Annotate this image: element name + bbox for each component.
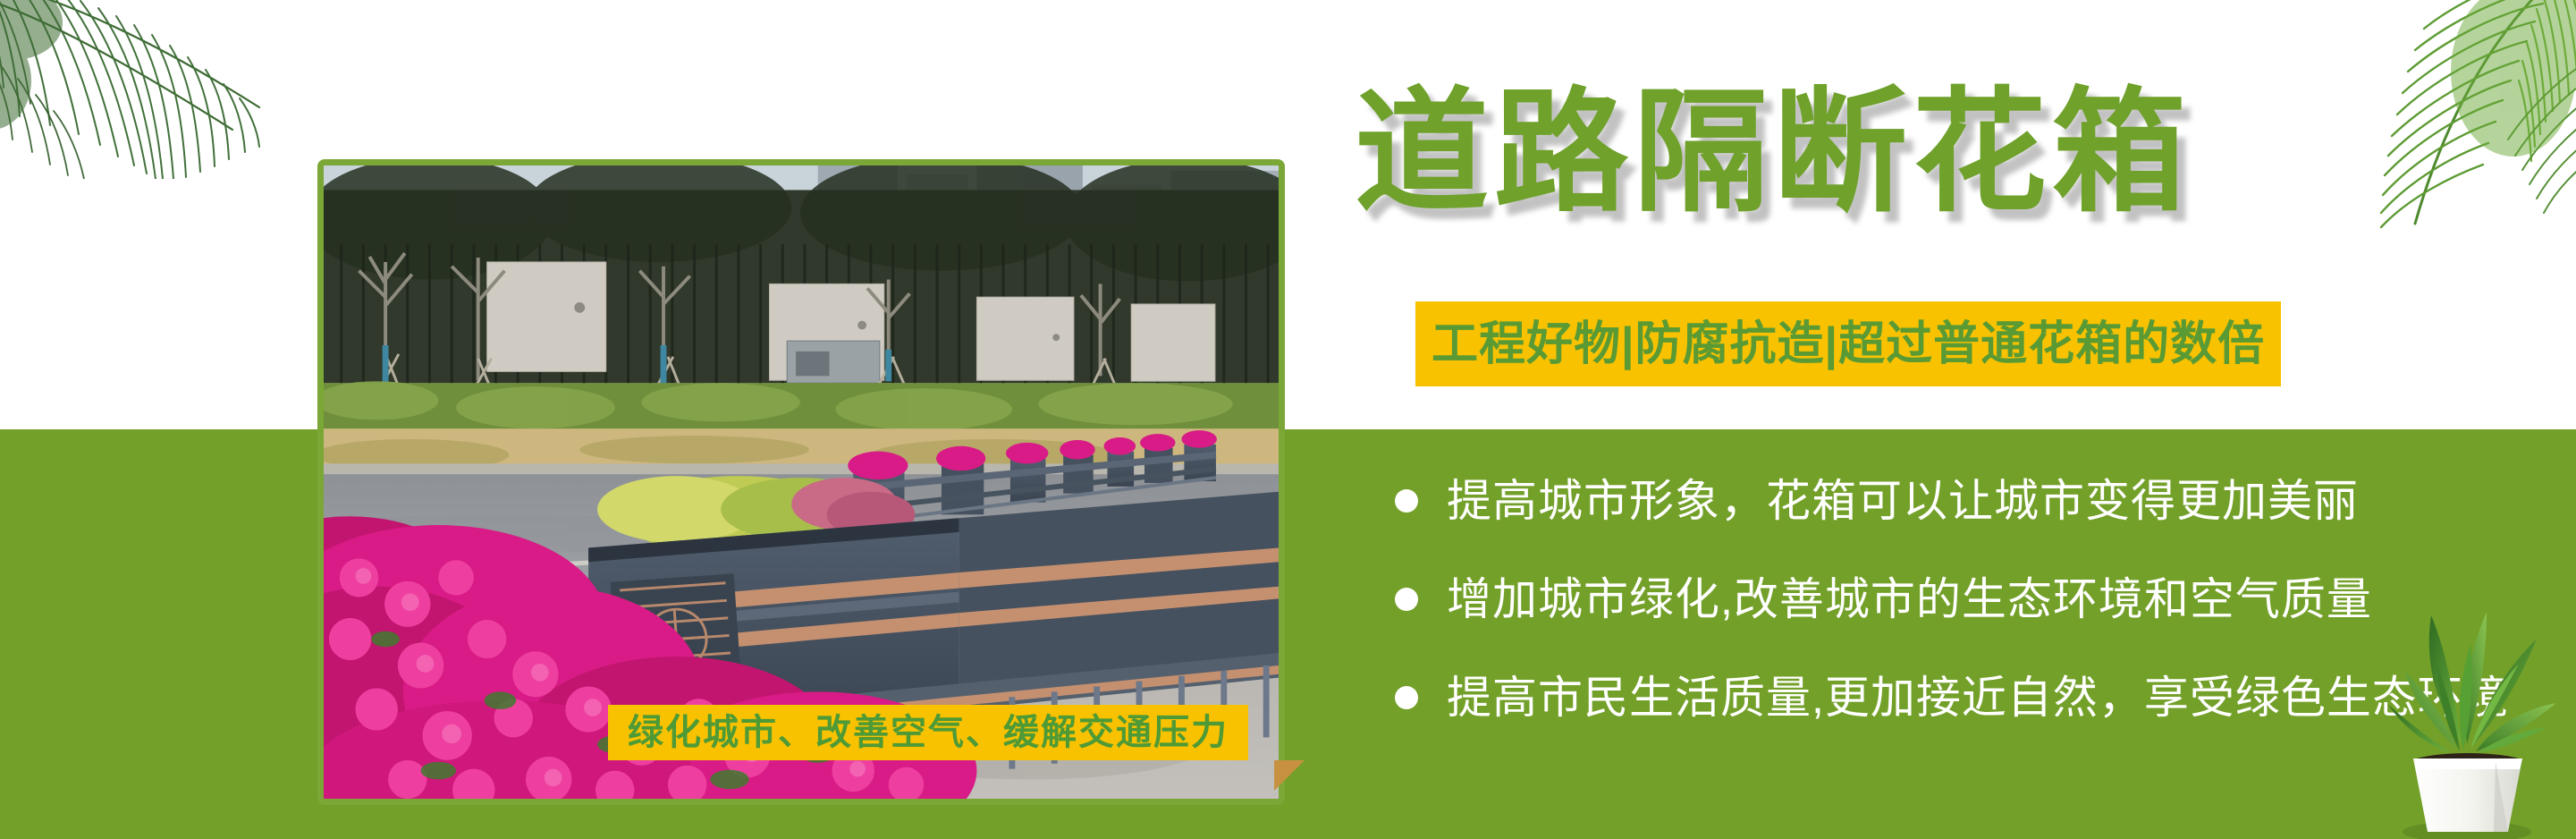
ribbon-fold-decoration xyxy=(1274,760,1305,791)
list-item: 提高市民生活质量,更加接近自然，享受绿色生态环境 xyxy=(1395,648,2575,747)
list-item: 提高城市形象，花箱可以让城市变得更加美丽 xyxy=(1395,452,2575,550)
photo-caption-ribbon: 绿化城市、改善空气、缓解交通压力 xyxy=(608,705,1248,760)
benefit-text: 提高市民生活质量,更加接近自然，享受绿色生态环境 xyxy=(1447,675,2509,720)
feature-highlight-bar: 工程好物|防腐抗造|超过普通花箱的数倍 xyxy=(1415,301,2281,386)
list-item: 增加城市绿化,改善城市的生态环境和空气质量 xyxy=(1395,550,2575,648)
benefit-text: 提高城市形象，花箱可以让城市变得更加美丽 xyxy=(1447,479,2359,523)
page-title: 道路隔断花箱 xyxy=(1355,85,2192,219)
photo-caption-text: 绿化城市、改善空气、缓解交通压力 xyxy=(628,715,1229,750)
palm-frond-icon xyxy=(2290,0,2576,233)
benefit-text: 增加城市绿化,改善城市的生态环境和空气质量 xyxy=(1447,577,2372,622)
palm-frond-icon xyxy=(0,0,268,179)
bullet-dot-icon xyxy=(1395,686,1418,709)
bullet-dot-icon xyxy=(1395,588,1418,611)
product-banner: 绿化城市、改善空气、缓解交通压力 道路隔断花箱 工程好物|防腐抗造|超过普通花箱… xyxy=(0,0,2576,839)
feature-highlight-text: 工程好物|防腐抗造|超过普通花箱的数倍 xyxy=(1432,321,2265,368)
bullet-dot-icon xyxy=(1395,489,1418,513)
benefit-list: 提高城市形象，花箱可以让城市变得更加美丽 增加城市绿化,改善城市的生态环境和空气… xyxy=(1395,452,2575,747)
